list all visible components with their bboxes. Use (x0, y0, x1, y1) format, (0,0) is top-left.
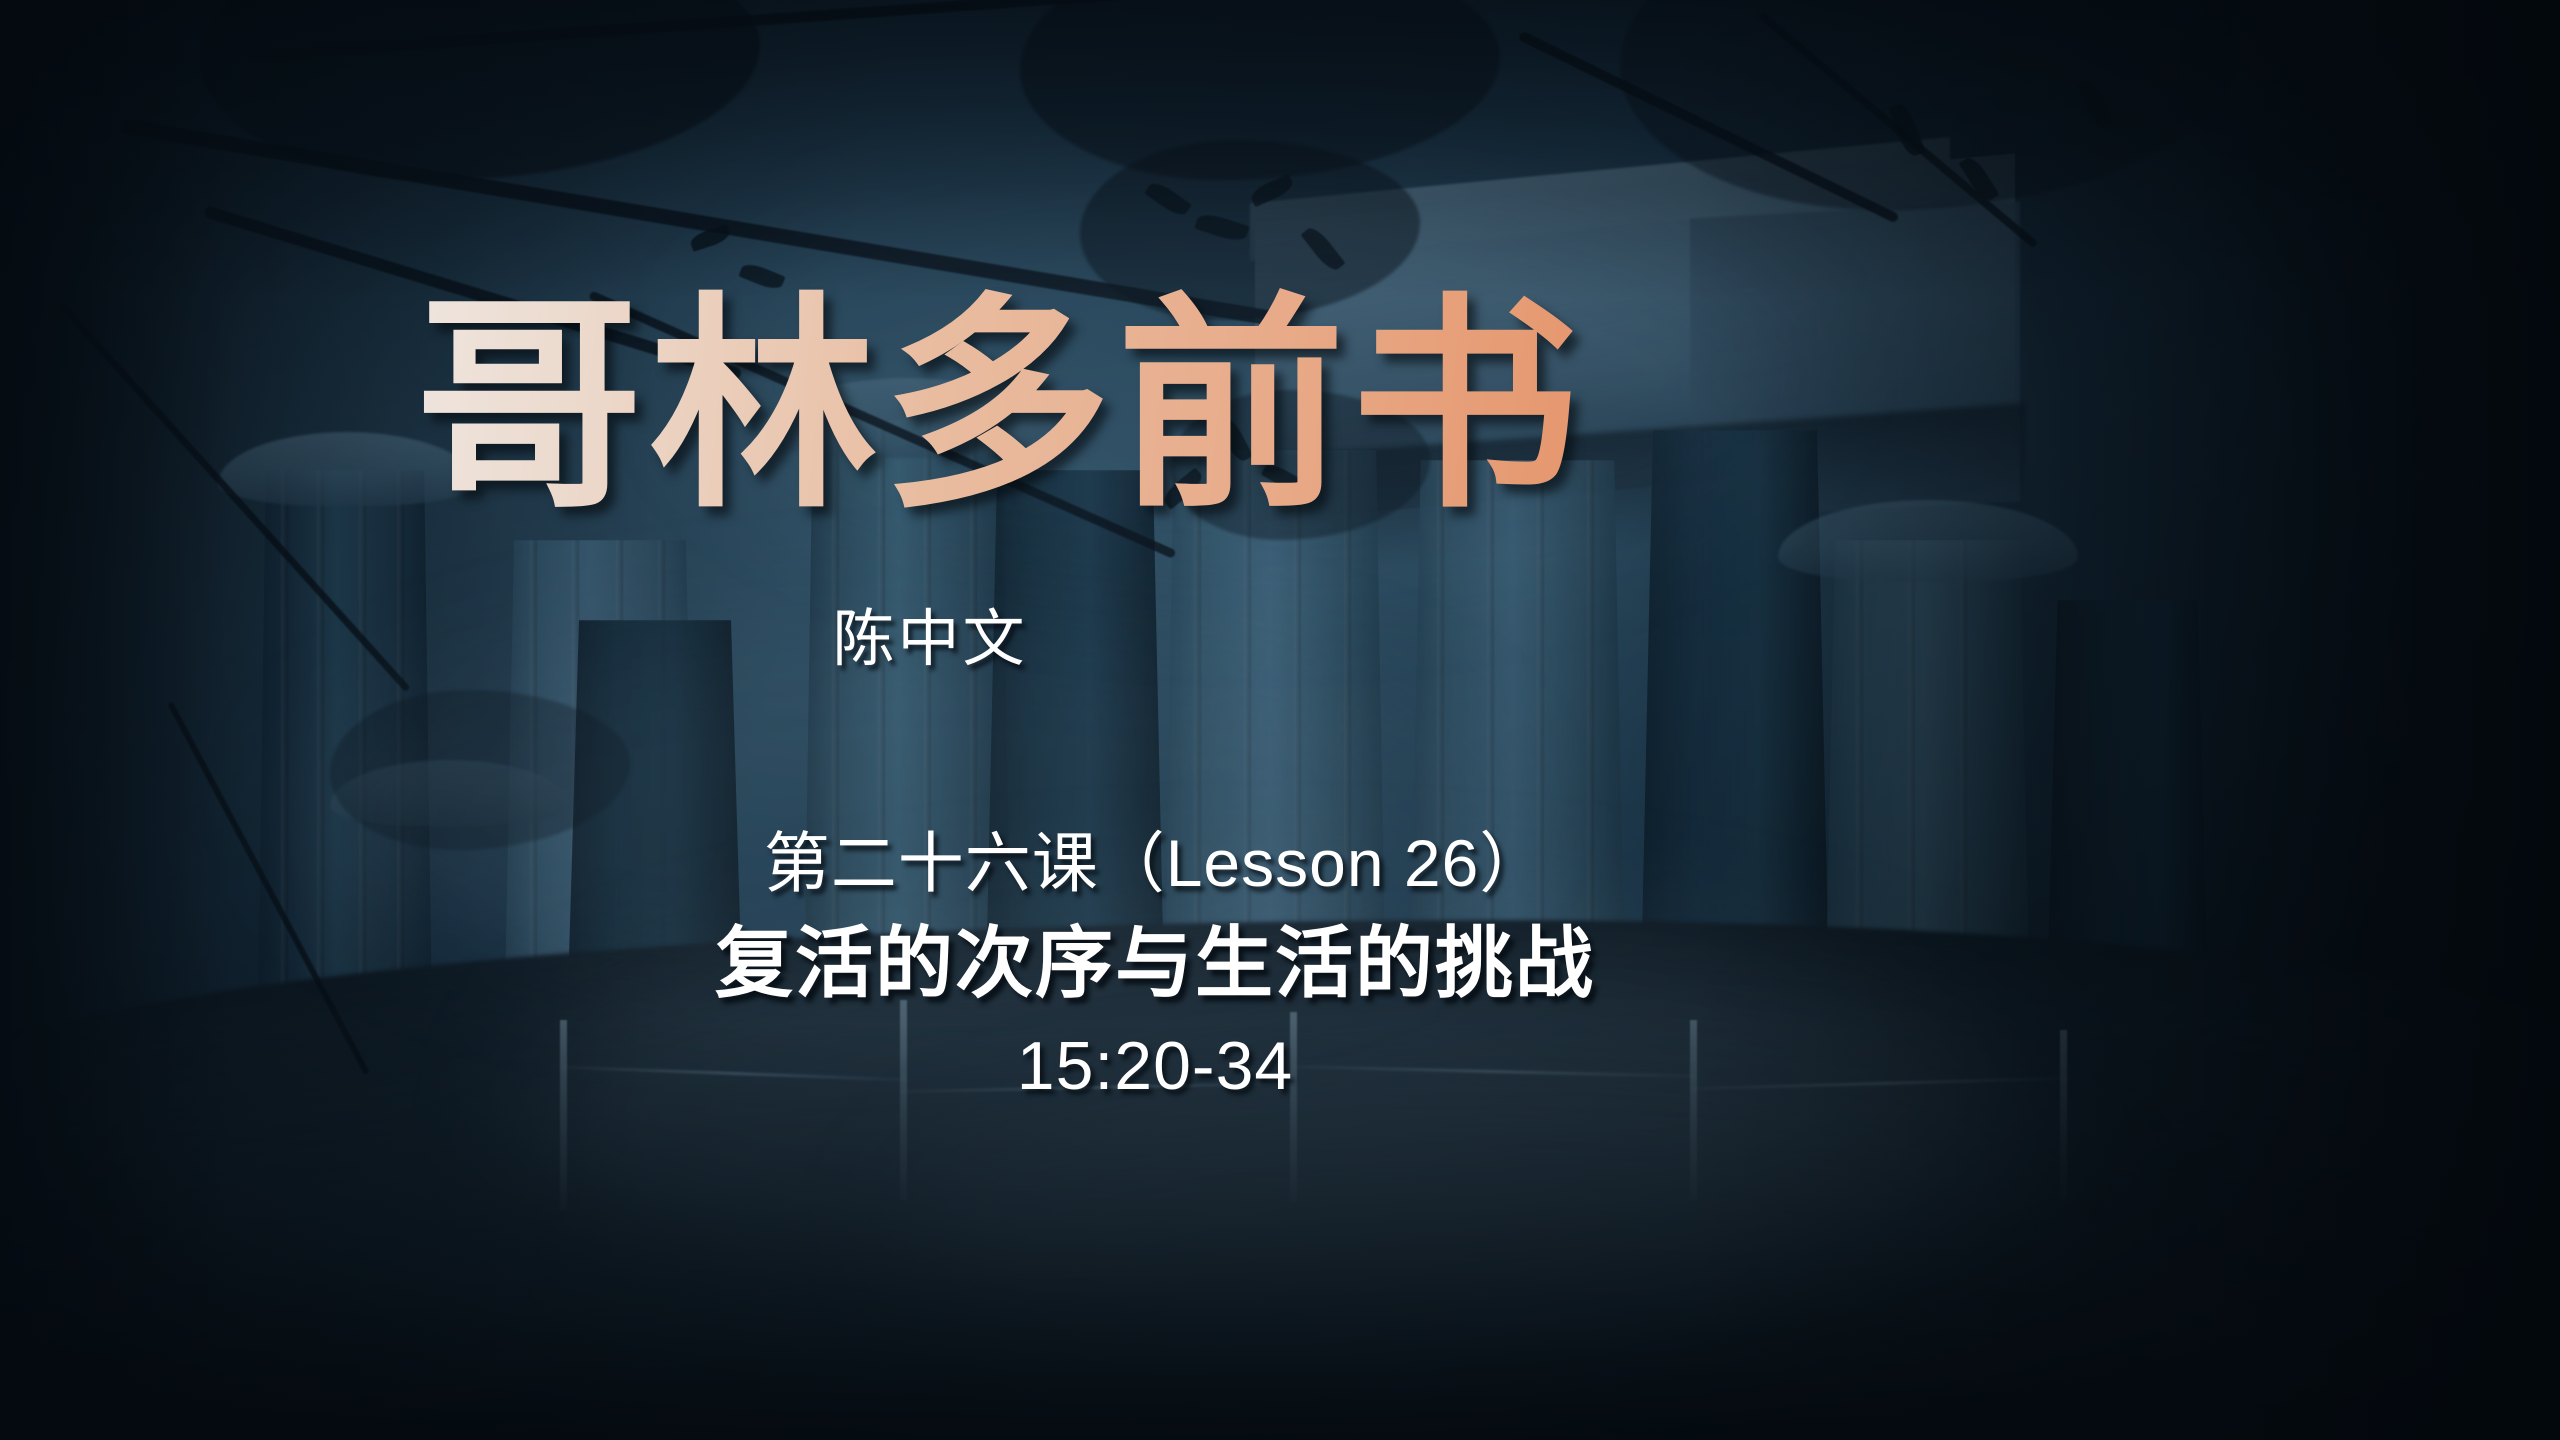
lesson-number-label: 第二十六课（Lesson 26） (0, 820, 2310, 907)
presentation-slide: 哥林多前书 陈中文 第二十六课（Lesson 26） 复活的次序与生活的挑战 1… (0, 0, 2560, 1440)
lesson-info-block: 第二十六课（Lesson 26） 复活的次序与生活的挑战 15:20-34 (0, 820, 2560, 1107)
book-title: 哥林多前书 (0, 282, 2560, 533)
lesson-subtitle: 复活的次序与生活的挑战 (0, 915, 2310, 1012)
scripture-reference: 15:20-34 (0, 1026, 2310, 1108)
slide-text-layer: 哥林多前书 陈中文 第二十六课（Lesson 26） 复活的次序与生活的挑战 1… (0, 0, 2560, 1440)
author-name: 陈中文 (0, 588, 2560, 678)
